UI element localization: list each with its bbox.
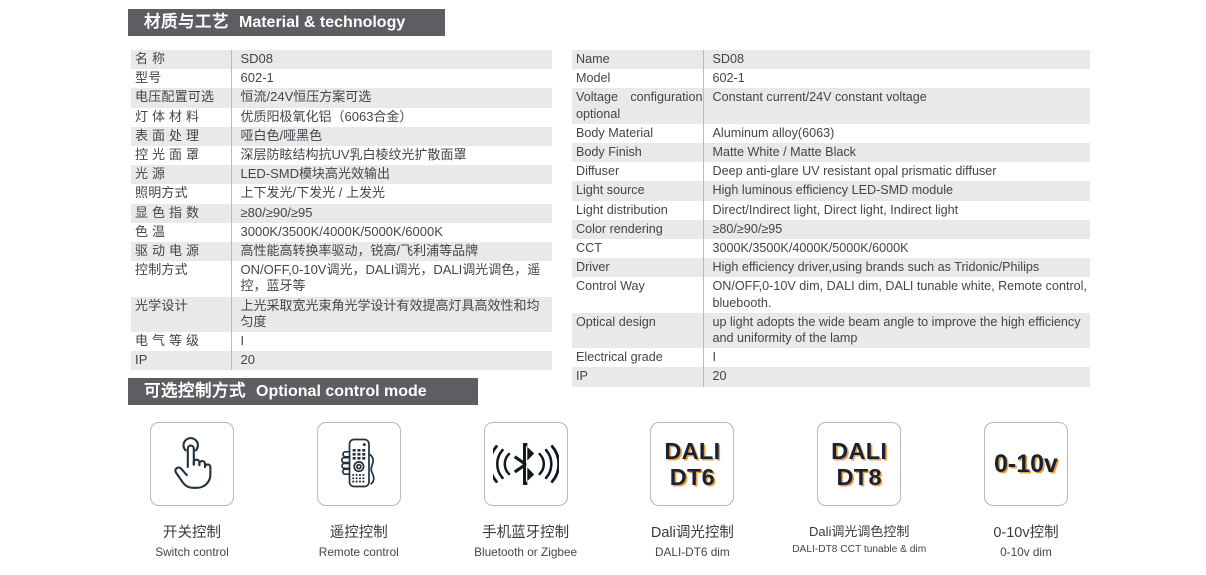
- spec-key: Voltage configuration optional: [572, 88, 703, 123]
- hand-tap-icon: [167, 437, 217, 491]
- spec-value: ON/OFF,0-10V dim, DALI dim, DALI tunable…: [703, 277, 1090, 312]
- control-mode-label-en: 0-10v dim: [1000, 546, 1052, 560]
- spec-value: ON/OFF,0-10V调光，DALI调光，DALI调光调色，遥控，蓝牙等: [231, 261, 552, 296]
- control-mode-label-en: Switch control: [155, 546, 228, 560]
- spec-value: Aluminum alloy(6063): [703, 124, 1090, 143]
- control-mode-item-dali-dt6[interactable]: DALI DT6 Dali调光控制 DALI-DT6 dim: [628, 422, 756, 559]
- spec-key: Light source: [572, 181, 703, 200]
- table-row: Voltage configuration optionalConstant c…: [572, 88, 1090, 123]
- spec-key: IP: [572, 367, 703, 386]
- table-row: 名 称SD08: [131, 50, 552, 69]
- table-row: 光学设计上光采取宽光束角光学设计有效提高灯具高效性和均匀度: [131, 297, 552, 332]
- table-row: 光 源LED-SMD模块高光效输出: [131, 165, 552, 184]
- spec-key: 控 光 面 罩: [131, 146, 231, 165]
- table-row: IP20: [131, 351, 552, 370]
- spec-value: I: [231, 332, 552, 351]
- spec-key: 光 源: [131, 165, 231, 184]
- table-row: DriverHigh efficiency driver,using brand…: [572, 258, 1090, 277]
- spec-key: 表 面 处 理: [131, 127, 231, 146]
- spec-key: 电 气 等 级: [131, 332, 231, 351]
- spec-value: 恒流/24V恒压方案可选: [231, 88, 552, 107]
- hand-remote-icon: [332, 436, 386, 492]
- spec-value: I: [703, 348, 1090, 367]
- spec-key: 驱 动 电 源: [131, 242, 231, 261]
- control-mode-label-cn: Dali调光控制: [651, 525, 734, 542]
- table-row: 电压配置可选恒流/24V恒压方案可选: [131, 88, 552, 107]
- control-mode-icon-box: [484, 422, 568, 506]
- dali-dt6-line2: DT6: [664, 466, 720, 489]
- spec-key: 名 称: [131, 50, 231, 69]
- control-mode-item-remote[interactable]: 遥控控制 Remote control: [295, 422, 423, 559]
- control-mode-label-en: Bluetooth or Zigbee: [474, 546, 577, 560]
- spec-value: LED-SMD模块高光效输出: [231, 165, 552, 184]
- section-header-material-en: Material & technology: [239, 15, 405, 31]
- spec-key: Body Finish: [572, 143, 703, 162]
- table-row: 表 面 处 理哑白色/哑黑色: [131, 127, 552, 146]
- control-mode-item-dali-dt8[interactable]: DALI DT8 Dali调光调色控制 DALI-DT8 CCT tunable…: [795, 422, 923, 559]
- dali-dt6-line1: DALI: [664, 438, 720, 464]
- dali-dt8-line2: DT8: [831, 466, 887, 489]
- control-mode-icon-box: DALI DT6: [650, 422, 734, 506]
- spec-table-english: NameSD08 Model602-1 Voltage configuratio…: [572, 50, 1090, 387]
- spec-key: Diffuser: [572, 162, 703, 181]
- table-row: 色 温3000K/3500K/4000K/5000K/6000K: [131, 223, 552, 242]
- spec-key: CCT: [572, 239, 703, 258]
- table-row: 驱 动 电 源高性能高转换率驱动，锐高/飞利浦等品牌: [131, 242, 552, 261]
- spec-key: 灯 体 材 料: [131, 108, 231, 127]
- table-row: Light sourceHigh luminous efficiency LED…: [572, 181, 1090, 200]
- spec-value: 20: [231, 351, 552, 370]
- table-row: 型号602-1: [131, 69, 552, 88]
- spec-value: 高性能高转换率驱动，锐高/飞利浦等品牌: [231, 242, 552, 261]
- spec-key: Control Way: [572, 277, 703, 312]
- table-row: Control WayON/OFF,0-10V dim, DALI dim, D…: [572, 277, 1090, 312]
- spec-value: 上下发光/下发光 / 上发光: [231, 184, 552, 203]
- control-mode-item-switch[interactable]: 开关控制 Switch control: [128, 422, 256, 559]
- control-mode-icon-box: DALI DT8: [817, 422, 901, 506]
- dali-dt8-line1: DALI: [831, 438, 887, 464]
- spec-key: 电压配置可选: [131, 88, 231, 107]
- control-mode-label-en: Remote control: [319, 546, 399, 560]
- spec-value: SD08: [703, 50, 1090, 69]
- control-mode-list: 开关控制 Switch control: [128, 422, 1090, 559]
- control-mode-label-en: DALI-DT8 CCT tunable & dim: [792, 544, 926, 556]
- table-row: 电 气 等 级I: [131, 332, 552, 351]
- spec-value: High efficiency driver,using brands such…: [703, 258, 1090, 277]
- table-row: Body MaterialAluminum alloy(6063): [572, 124, 1090, 143]
- table-row: Electrical gradeI: [572, 348, 1090, 367]
- spec-value: 上光采取宽光束角光学设计有效提高灯具高效性和均匀度: [231, 297, 552, 332]
- spec-table-chinese: 名 称SD08 型号602-1 电压配置可选恒流/24V恒压方案可选 灯 体 材…: [131, 50, 552, 370]
- spec-value: Deep anti-glare UV resistant opal prisma…: [703, 162, 1090, 181]
- spec-key: 照明方式: [131, 184, 231, 203]
- spec-value: 优质阳极氧化铝（6063合金）: [231, 108, 552, 127]
- table-row: CCT3000K/3500K/4000K/5000K/6000K: [572, 239, 1090, 258]
- table-row: 控制方式ON/OFF,0-10V调光，DALI调光，DALI调光调色，遥控，蓝牙…: [131, 261, 552, 296]
- control-mode-label-cn: Dali调光调色控制: [809, 525, 909, 540]
- control-mode-item-bluetooth[interactable]: 手机蓝牙控制 Bluetooth or Zigbee: [462, 422, 590, 559]
- control-mode-label-cn: 0-10v控制: [993, 525, 1058, 542]
- dali-dt8-icon: DALI DT8: [831, 440, 887, 488]
- control-mode-icon-box: 0-10v: [984, 422, 1068, 506]
- spec-key: Name: [572, 50, 703, 69]
- spec-value: 20: [703, 367, 1090, 386]
- spec-key: 型号: [131, 69, 231, 88]
- table-row: 照明方式上下发光/下发光 / 上发光: [131, 184, 552, 203]
- spec-key: 显 色 指 数: [131, 204, 231, 223]
- spec-key: Color rendering: [572, 220, 703, 239]
- spec-value: 602-1: [231, 69, 552, 88]
- zero-to-ten-volt-icon: 0-10v: [994, 450, 1058, 479]
- section-header-control-en: Optional control mode: [256, 384, 427, 400]
- control-mode-icon-box: [317, 422, 401, 506]
- spec-value: 3000K/3500K/4000K/5000K/6000K: [231, 223, 552, 242]
- spec-value: ≥80/≥90/≥95: [703, 220, 1090, 239]
- spec-key: Body Material: [572, 124, 703, 143]
- spec-value: 3000K/3500K/4000K/5000K/6000K: [703, 239, 1090, 258]
- spec-value: 深层防眩结构抗UV乳白棱纹光扩散面罩: [231, 146, 552, 165]
- section-header-material: 材质与工艺 Material & technology: [128, 9, 445, 36]
- section-header-control-cn: 可选控制方式: [144, 383, 246, 400]
- table-row: Optical designup light adopts the wide b…: [572, 313, 1090, 348]
- spec-value: Constant current/24V constant voltage: [703, 88, 1090, 123]
- control-mode-label-cn: 手机蓝牙控制: [482, 525, 569, 542]
- spec-value: up light adopts the wide beam angle to i…: [703, 313, 1090, 348]
- table-row: 控 光 面 罩深层防眩结构抗UV乳白棱纹光扩散面罩: [131, 146, 552, 165]
- table-row: 灯 体 材 料优质阳极氧化铝（6063合金）: [131, 108, 552, 127]
- table-row: Model602-1: [572, 69, 1090, 88]
- spec-value: Direct/Indirect light, Direct light, Ind…: [703, 201, 1090, 220]
- spec-key: 色 温: [131, 223, 231, 242]
- control-mode-label-cn: 遥控控制: [330, 525, 388, 542]
- spec-value: 602-1: [703, 69, 1090, 88]
- table-row: DiffuserDeep anti-glare UV resistant opa…: [572, 162, 1090, 181]
- spec-key: Driver: [572, 258, 703, 277]
- control-mode-icon-box: [150, 422, 234, 506]
- control-mode-label-cn: 开关控制: [163, 525, 221, 542]
- spec-value: SD08: [231, 50, 552, 69]
- table-row: Color rendering≥80/≥90/≥95: [572, 220, 1090, 239]
- spec-key: Electrical grade: [572, 348, 703, 367]
- spec-value: Matte White / Matte Black: [703, 143, 1090, 162]
- section-header-material-cn: 材质与工艺: [144, 14, 229, 31]
- section-header-control-mode: 可选控制方式 Optional control mode: [128, 378, 478, 405]
- spec-key: Optical design: [572, 313, 703, 348]
- spec-key: 控制方式: [131, 261, 231, 296]
- control-mode-label-en: DALI-DT6 dim: [655, 546, 730, 560]
- table-row: Body FinishMatte White / Matte Black: [572, 143, 1090, 162]
- spec-value: ≥80/≥90/≥95: [231, 204, 552, 223]
- table-row: 显 色 指 数≥80/≥90/≥95: [131, 204, 552, 223]
- spec-key: IP: [131, 351, 231, 370]
- bluetooth-wave-icon: [493, 441, 559, 487]
- table-row: Light distributionDirect/Indirect light,…: [572, 201, 1090, 220]
- spec-value: High luminous efficiency LED-SMD module: [703, 181, 1090, 200]
- table-row: IP20: [572, 367, 1090, 386]
- spec-value: 哑白色/哑黑色: [231, 127, 552, 146]
- dali-dt6-icon: DALI DT6: [664, 440, 720, 488]
- table-row: NameSD08: [572, 50, 1090, 69]
- spec-key: 光学设计: [131, 297, 231, 332]
- spec-key: Light distribution: [572, 201, 703, 220]
- spec-key: Model: [572, 69, 703, 88]
- control-mode-item-0-10v[interactable]: 0-10v 0-10v控制 0-10v dim: [962, 422, 1090, 559]
